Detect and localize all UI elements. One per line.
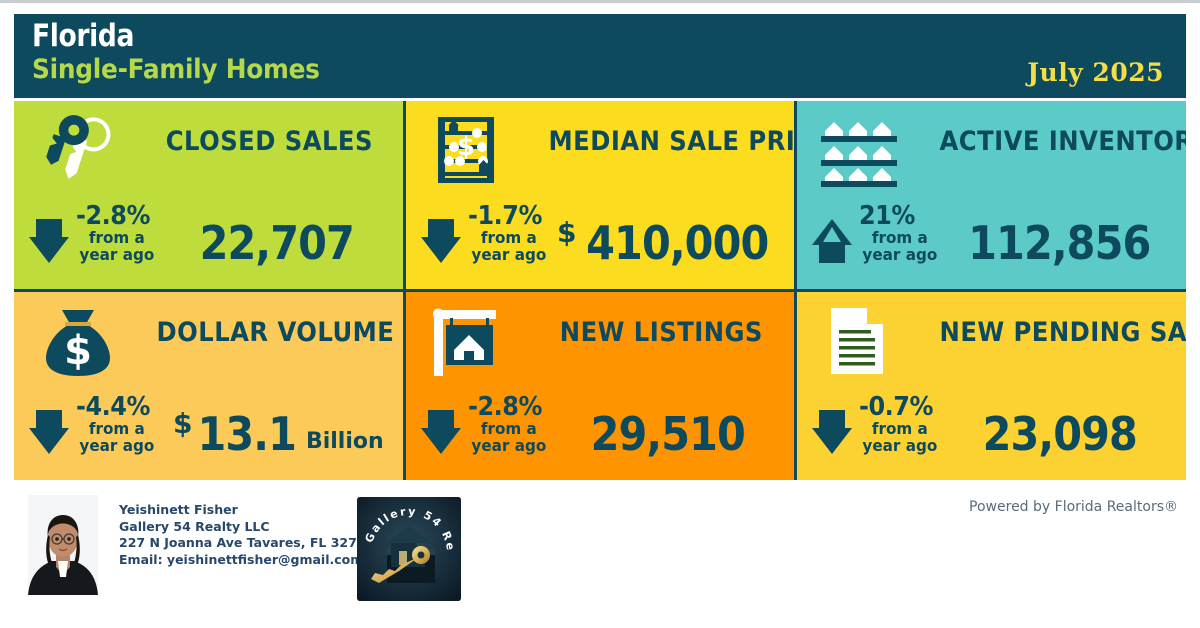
agent-email[interactable]: Email: yeishinettfisher@gmail.com [119,552,374,569]
change-note-2: year ago [76,247,158,263]
change-note-2: year ago [859,247,941,263]
panel-top: CLOSED SALES [14,101,403,197]
arrow-down-icon [420,217,462,265]
metric-value: 410,000 [587,219,769,267]
panel-bottom: -0.7% from a year ago 23,098 [797,388,1186,480]
panel-top: NEW PENDING SALES [797,292,1186,388]
change-note-1: from a [859,230,941,246]
metric-value-group: 23,098 [947,396,1176,472]
metric-panel-new-pending-sales[interactable]: NEW PENDING SALES -0.7% from a year ago [797,292,1186,480]
value-suffix: Billion [306,430,384,454]
metric-value-group: 112,856 [947,205,1176,281]
panel-title: DOLLAR VOLUME [157,318,383,348]
arrow-down-icon [28,408,70,456]
powered-by-label: Powered by Florida Realtors® [969,499,1178,515]
panel-title: NEW PENDING SALES [940,318,1166,348]
metric-value: 22,707 [199,219,353,267]
header-bar: Florida Single-Family Homes July 2025 [14,14,1186,98]
metric-panel-closed-sales[interactable]: CLOSED SALES -2.8% from a year ago [14,101,403,289]
metric-value: 23,098 [982,410,1136,458]
value-prefix: $ [173,409,192,439]
arrow-down-icon [811,408,853,456]
brokerage-logo[interactable]: Gallery 54 Realty [357,497,461,601]
panel-bottom: 21% from a year ago 112,856 [797,197,1186,289]
metric-value-group: 22,707 [164,205,393,281]
houses-rows-icon [815,111,911,189]
money-bag-icon: $ [32,302,128,380]
avatar [28,495,98,595]
metric-value: 112,856 [969,219,1151,267]
document-icon [815,302,911,380]
agent-name: Yeishinett Fisher [119,502,374,519]
abacus-icon: $ [424,111,520,189]
panel-top: $ MEDIAN SALE PRICE [406,101,795,197]
metric-value-group: 29,510 [556,396,785,472]
change-note-1: from a [859,421,941,437]
svg-text:$: $ [457,132,475,162]
panel-title: ACTIVE INVENTORY [940,127,1166,157]
key-icon [32,111,128,189]
panel-top: $ DOLLAR VOLUME [14,292,403,388]
agent-address: 227 N Joanna Ave Tavares, FL 32778 [119,535,374,552]
panel-bottom: -4.4% from a year ago $ 13.1 Billion [14,388,403,480]
change-note-1: from a [468,421,550,437]
change-note-2: year ago [859,438,941,454]
panel-bottom: -2.8% from a year ago 22,707 [14,197,403,289]
for-sale-sign-icon [424,302,520,380]
metric-panel-new-listings[interactable]: NEW LISTINGS -2.8% from a year ago [406,292,795,480]
arrow-down-icon [420,408,462,456]
panel-bottom: -2.8% from a year ago 29,510 [406,388,795,480]
panel-top: ACTIVE INVENTORY [797,101,1186,197]
panel-bottom: -1.7% from a year ago $ 410,000 [406,197,795,289]
change-note-2: year ago [76,438,158,454]
agent-company: Gallery 54 Realty LLC [119,519,374,536]
change-note-2: year ago [468,438,550,454]
metric-panel-median-sale-price[interactable]: $ MEDIAN SALE PRICE -1.7% from a year a [406,101,795,289]
panel-top: NEW LISTINGS [406,292,795,388]
metric-value-group: $ 410,000 [556,205,785,281]
metric-value: 29,510 [591,410,745,458]
header-title-group: Florida Single-Family Homes [32,20,345,85]
page-title-state: Florida [32,20,301,52]
panel-title: MEDIAN SALE PRICE [548,127,774,157]
value-prefix: $ [557,218,576,248]
agent-contact-block: Yeishinett Fisher Gallery 54 Realty LLC … [119,502,374,568]
panel-title: CLOSED SALES [157,127,383,157]
change-note-1: from a [76,230,158,246]
arrow-down-icon [28,217,70,265]
change-note-1: from a [76,421,158,437]
metric-panel-dollar-volume[interactable]: $ DOLLAR VOLUME -4.4% from a year ago [14,292,403,480]
metric-panel-active-inventory[interactable]: ACTIVE INVENTORY 21% from a year ago [797,101,1186,289]
arrow-up-icon [811,217,853,265]
change-note-2: year ago [468,247,550,263]
page-subtitle: Single-Family Homes [32,55,320,85]
footer: Yeishinett Fisher Gallery 54 Realty LLC … [14,487,1186,614]
metric-value-group: $ 13.1 Billion [164,396,393,472]
metrics-grid: CLOSED SALES -2.8% from a year ago [14,101,1186,480]
svg-text:$: $ [64,328,92,374]
report-date: July 2025 [1027,58,1164,87]
metric-value: 13.1 [198,410,297,458]
panel-title: NEW LISTINGS [548,318,774,348]
change-note-1: from a [468,230,550,246]
infographic-page: Florida Single-Family Homes July 2025 [0,0,1200,628]
